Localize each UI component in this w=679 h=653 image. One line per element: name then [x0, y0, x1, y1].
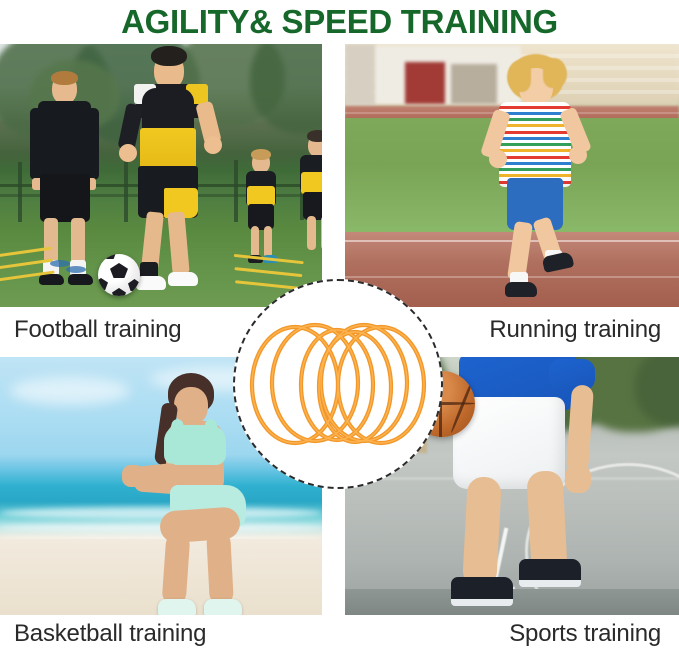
label-text-running: Running training: [489, 316, 661, 344]
label-text-basketball: Basketball training: [14, 620, 206, 648]
page-header: AGILITY& SPEED TRAINING: [0, 0, 679, 44]
cell-label-basketball: Basketball training: [0, 615, 322, 653]
photo-running-training: [345, 44, 679, 307]
soccer-ball: [98, 254, 140, 296]
feature-grid: Football training: [0, 44, 679, 653]
product-badge: [233, 279, 443, 489]
photo-football-training: [0, 44, 322, 307]
basketball-player: [423, 357, 593, 615]
cell-label-sports: Sports training: [345, 615, 679, 653]
label-text-football: Football training: [14, 316, 181, 344]
page-title: AGILITY& SPEED TRAINING: [121, 3, 558, 41]
label-text-sports: Sports training: [509, 620, 661, 648]
agility-rings-graphic: [233, 279, 443, 489]
running-child: [483, 50, 593, 300]
